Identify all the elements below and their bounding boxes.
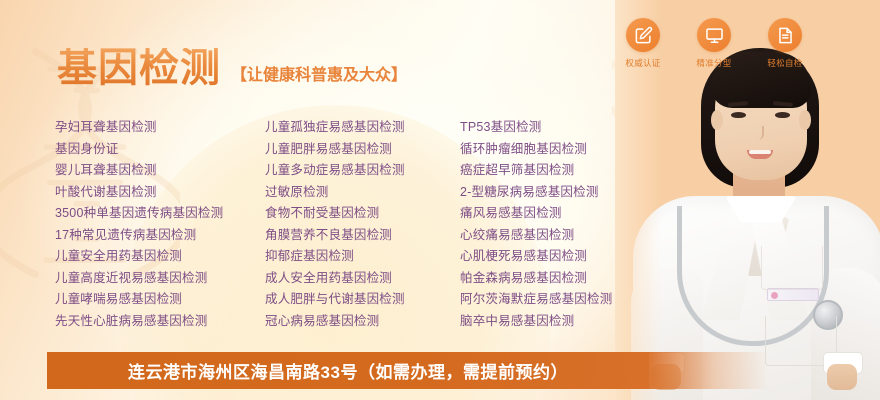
pencil-square-icon xyxy=(626,18,660,52)
list-item[interactable]: 循环肿瘤细胞基因检测 xyxy=(460,139,690,161)
gene-testing-banner: 基因检测 【让健康科普惠及大众】 权威认证 精准分型 xyxy=(0,0,880,400)
list-item[interactable]: 脑卒中易感基因检测 xyxy=(460,311,690,333)
list-item[interactable]: 帕金森病易感基因检测 xyxy=(460,268,690,290)
list-item[interactable]: 婴儿耳聋基因检测 xyxy=(55,160,265,182)
list-item[interactable]: 成人肥胖与代谢基因检测 xyxy=(265,289,460,311)
list-item[interactable]: 心绞痛易感基因检测 xyxy=(460,225,690,247)
list-item[interactable]: 基因身份证 xyxy=(55,139,265,161)
list-item[interactable]: 2-型糖尿病易感基因检测 xyxy=(460,182,690,204)
address-text: 连云港市海州区海昌南路33号（如需办理，需提前预约） xyxy=(128,358,568,383)
list-item[interactable]: 儿童安全用药基因检测 xyxy=(55,246,265,268)
feature-label: 精准分型 xyxy=(696,57,731,69)
list-item[interactable]: 食物不耐受基因检测 xyxy=(265,203,460,225)
doctor-hand-right xyxy=(827,364,857,390)
list-item[interactable]: 先天性心脏病易感基因检测 xyxy=(55,311,265,333)
list-item[interactable]: 阿尔茨海默症易感基因检测 xyxy=(460,289,690,311)
list-item[interactable]: 过敏原检测 xyxy=(265,182,460,204)
doctor-eye-left xyxy=(731,112,746,118)
doctor-eye-right xyxy=(775,112,790,118)
test-list-column-3: TP53基因检测 循环肿瘤细胞基因检测 癌症超早筛基因检测 2-型糖尿病易感基因… xyxy=(460,117,690,332)
list-item[interactable]: 痛风易感基因检测 xyxy=(460,203,690,225)
doctor-ear-left xyxy=(711,110,723,130)
list-item[interactable]: TP53基因检测 xyxy=(460,117,690,139)
list-item[interactable]: 心肌梗死易感基因检测 xyxy=(460,246,690,268)
list-item[interactable]: 叶酸代谢基因检测 xyxy=(55,182,265,204)
feature-authority-certification[interactable]: 权威认证 xyxy=(620,18,666,69)
feature-precise-typing[interactable]: 精准分型 xyxy=(691,18,737,69)
test-item-lists: 孕妇耳聋基因检测 基因身份证 婴儿耳聋基因检测 叶酸代谢基因检测 3500种单基… xyxy=(55,117,690,332)
banner-heading: 基因检测 【让健康科普惠及大众】 xyxy=(57,48,407,88)
list-item[interactable]: 儿童高度近视易感基因检测 xyxy=(55,268,265,290)
list-item[interactable]: 3500种单基因遗传病基因检测 xyxy=(55,203,265,225)
doctor-teeth xyxy=(749,150,771,154)
monitor-icon xyxy=(697,18,731,52)
list-item[interactable]: 儿童孤独症易感基因检测 xyxy=(265,117,460,139)
list-item[interactable]: 孕妇耳聋基因检测 xyxy=(55,117,265,139)
address-bar: 连云港市海州区海昌南路33号（如需办理，需提前预约） xyxy=(47,352,649,389)
list-item[interactable]: 抑郁症基因检测 xyxy=(265,246,460,268)
page-title: 基因检测 xyxy=(57,48,221,88)
feature-label: 轻松自检 xyxy=(767,57,802,69)
list-item[interactable]: 成人安全用药基因检测 xyxy=(265,268,460,290)
list-item[interactable]: 儿童哮喘易感基因检测 xyxy=(55,289,265,311)
test-list-column-2: 儿童孤独症易感基因检测 儿童肥胖易感基因检测 儿童多动症易感基因检测 过敏原检测… xyxy=(265,117,460,332)
list-item[interactable]: 17种常见遗传病基因检测 xyxy=(55,225,265,247)
feature-badges: 权威认证 精准分型 轻松自检 xyxy=(620,18,808,69)
address-bar-fade xyxy=(649,352,769,389)
coat-chest-pocket xyxy=(761,246,823,290)
feature-label: 权威认证 xyxy=(625,57,660,69)
list-item[interactable]: 角膜营养不良基因检测 xyxy=(265,225,460,247)
test-list-column-1: 孕妇耳聋基因检测 基因身份证 婴儿耳聋基因检测 叶酸代谢基因检测 3500种单基… xyxy=(55,117,265,332)
feature-easy-self-check[interactable]: 轻松自检 xyxy=(762,18,808,69)
list-item[interactable]: 冠心病易感基因检测 xyxy=(265,311,460,333)
list-item[interactable]: 儿童多动症易感基因检测 xyxy=(265,160,460,182)
page-subtitle: 【让健康科普惠及大众】 xyxy=(231,61,407,88)
doctor-ear-right xyxy=(799,110,811,130)
list-item[interactable]: 癌症超早筛基因检测 xyxy=(460,160,690,182)
list-item[interactable]: 儿童肥胖易感基因检测 xyxy=(265,139,460,161)
document-icon xyxy=(768,18,802,52)
